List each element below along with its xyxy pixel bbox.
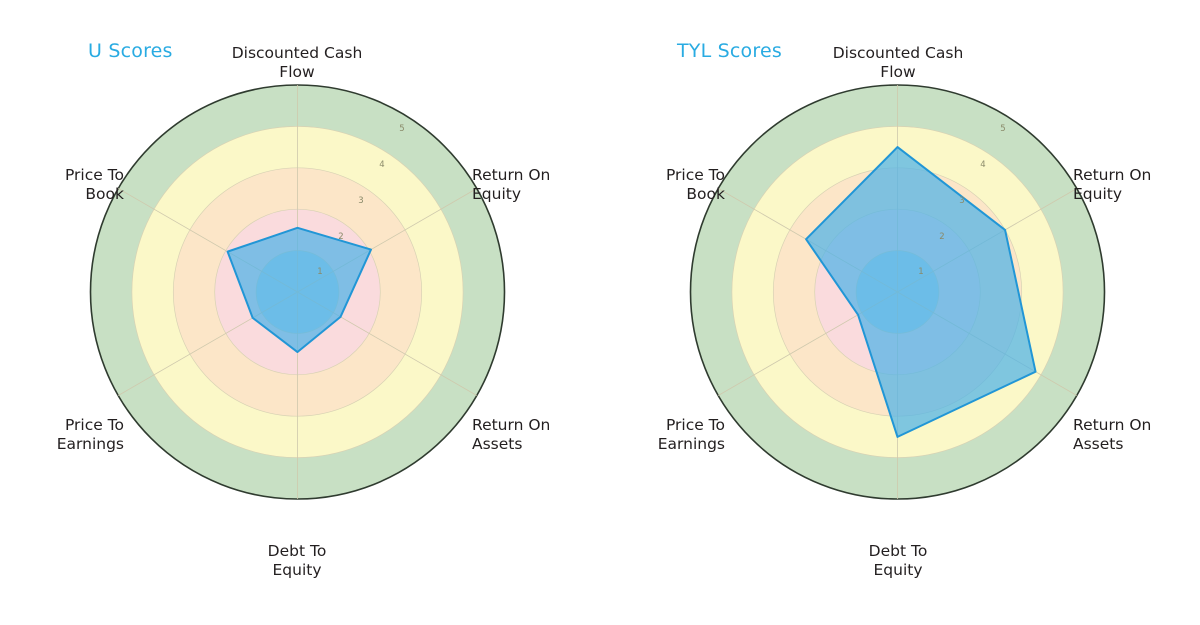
axis-label-return-on-assets: Return On Assets (472, 416, 550, 454)
axis-label-price-to-earnings: Price To Earnings (658, 416, 725, 454)
axis-label-debt-to-equity: Debt To Equity (869, 542, 928, 580)
radial-tick-1: 1 (918, 267, 923, 277)
axis-label-price-to-book: Price To Book (65, 166, 124, 204)
axis-label-return-on-assets: Return On Assets (1073, 416, 1151, 454)
axis-label-return-on-equity: Return On Equity (472, 166, 550, 204)
axis-label-return-on-equity: Return On Equity (1073, 166, 1151, 204)
radar-chart-figure: U Scores Discounted Cash Flow Return On … (0, 0, 1200, 625)
axis-label-price-to-book: Price To Book (666, 166, 725, 204)
radial-tick-4: 4 (379, 160, 384, 170)
radial-tick-3: 3 (959, 196, 964, 206)
radial-tick-5: 5 (399, 124, 404, 134)
radial-tick-2: 2 (338, 232, 343, 242)
radar-plot-tyl-scores (600, 0, 1200, 625)
radial-tick-3: 3 (358, 196, 363, 206)
axis-label-debt-to-equity: Debt To Equity (268, 542, 327, 580)
axis-label-discounted-cash-flow: Discounted Cash Flow (232, 44, 363, 82)
radial-tick-4: 4 (980, 160, 985, 170)
radial-tick-5: 5 (1000, 124, 1005, 134)
radial-tick-1: 1 (317, 267, 322, 277)
panel-u-scores: U Scores Discounted Cash Flow Return On … (0, 0, 600, 625)
axis-label-price-to-earnings: Price To Earnings (57, 416, 124, 454)
radar-plot-u-scores (0, 0, 600, 625)
panel-tyl-scores: TYL Scores Discounted Cash Flow Return O… (600, 0, 1200, 625)
radial-tick-2: 2 (939, 232, 944, 242)
axis-label-discounted-cash-flow: Discounted Cash Flow (833, 44, 964, 82)
